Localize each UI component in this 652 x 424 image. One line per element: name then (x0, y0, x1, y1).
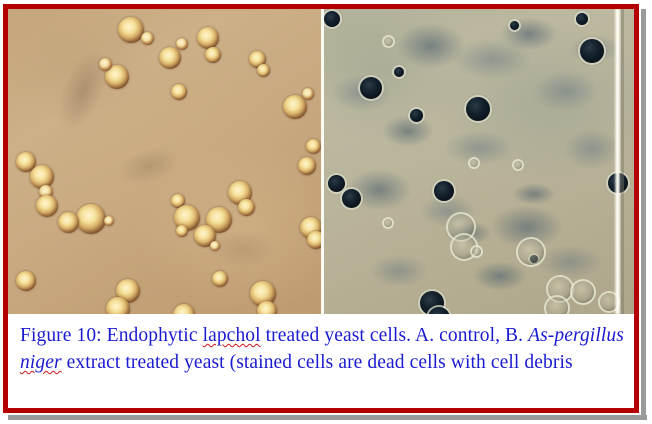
cell-debris-patch (370, 255, 428, 287)
frame-drop-shadow-right (641, 9, 646, 420)
caption-species-part1: As- (528, 325, 554, 346)
unstained-cell (546, 297, 568, 314)
yeast-bud (302, 88, 314, 100)
yeast-bud (257, 301, 277, 314)
unstained-cell (470, 159, 478, 167)
yeast-bud (238, 199, 255, 216)
unstained-cell (384, 219, 392, 227)
micrograph-panel-pair (8, 9, 634, 314)
dead-stained-cell (394, 67, 404, 77)
caption-line1-prefix: Figure 10: Endophytic (20, 325, 203, 346)
cell-debris-patch (444, 131, 514, 165)
unstained-cell (452, 235, 476, 259)
cell-debris-patch (538, 245, 602, 279)
unstained-cell (514, 161, 522, 169)
cell-debris-patch (500, 17, 558, 51)
dead-stained-cell (510, 21, 519, 30)
yeast-bud (205, 47, 221, 63)
yeast-cell (58, 212, 79, 233)
figure-caption-area: Figure 10: Endophytic lapchol treated ye… (8, 314, 634, 408)
dead-stained-cell (360, 77, 382, 99)
dead-stained-cell (434, 181, 454, 201)
yeast-cell (171, 84, 187, 100)
caption-line1-middle: treated yeast cells. A. control, B. (261, 325, 528, 346)
caption-line2-rest: extract treated yeast (stained cells are… (62, 352, 486, 373)
cell-debris-patch (512, 183, 556, 205)
unstained-cell (572, 281, 594, 303)
yeast-bud (210, 241, 220, 251)
yeast-cell (16, 271, 36, 291)
cell-debris-patch (564, 129, 620, 169)
white-streak-edge (621, 9, 624, 314)
yeast-cell (36, 195, 58, 217)
caption-species-part2: pergillus (554, 325, 624, 346)
yeast-cell (197, 27, 219, 49)
cell-debris-patch (534, 71, 598, 111)
micrograph-panel-a-control (8, 9, 321, 314)
yeast-bud (176, 38, 188, 50)
caption-misspelled-niger: niger (20, 352, 62, 373)
dead-stained-cell (342, 189, 361, 208)
caption-line3: cell debris (491, 352, 573, 373)
dead-stained-cell (410, 109, 423, 122)
yeast-bud (257, 64, 270, 77)
yeast-cell (298, 157, 316, 175)
unstained-cell (384, 37, 393, 46)
yeast-cell (106, 297, 130, 314)
cell-debris-patch (382, 115, 434, 147)
yeast-cell (159, 47, 181, 69)
figure-frame: Figure 10: Endophytic lapchol treated ye… (3, 4, 639, 413)
yeast-bud (104, 216, 114, 226)
dead-stained-cell (324, 11, 340, 27)
caption-misspelled-lapchol: lapchol (203, 325, 261, 346)
dead-stained-cell (466, 97, 490, 121)
yeast-bud (306, 139, 321, 154)
micrograph-panel-b-treated (324, 9, 634, 314)
yeast-bud (176, 225, 188, 237)
yeast-bud (99, 58, 112, 71)
yeast-bud (307, 231, 321, 249)
dead-stained-cell (328, 175, 345, 192)
unstained-cell-bud (472, 247, 481, 256)
yeast-bud (141, 32, 154, 45)
white-streak-artifact (614, 9, 621, 314)
figure-caption-text: Figure 10: Endophytic lapchol treated ye… (20, 322, 624, 376)
dead-stained-cell (580, 39, 604, 63)
yeast-cell (76, 204, 106, 234)
unstained-cell (518, 239, 544, 265)
frame-drop-shadow-bottom (8, 415, 647, 420)
yeast-cell (212, 271, 228, 287)
dead-stained-cell (576, 13, 588, 25)
cell-debris-patch (472, 261, 528, 291)
